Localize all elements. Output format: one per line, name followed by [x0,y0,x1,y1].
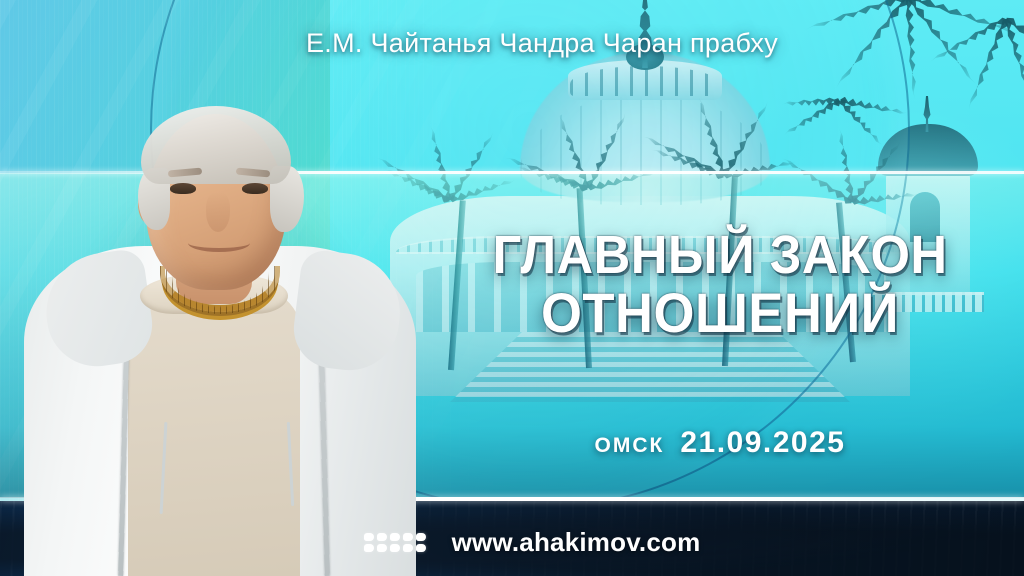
eye-left [170,183,196,194]
nose [206,192,230,232]
speaker-portrait [10,28,430,576]
eye-right [242,183,268,194]
logo-dot [416,544,426,552]
logo-dot [416,533,426,541]
logo-dot [364,544,374,552]
logo-dot [390,544,400,552]
title-line-1: ГЛАВНЫЙ ЗАКОН [447,230,992,282]
event-date: 21.09.2025 [680,426,845,459]
promo-banner: Е.М. Чайтанья Чандра Чаран прабху ГЛАВНЫ… [0,0,1024,576]
logo-dot [377,544,387,552]
logo-dot [403,533,413,541]
website-url[interactable]: www.ahakimov.com [452,527,701,558]
mouth-smile [188,234,250,252]
logo-dot [364,533,374,541]
event-place-date: Омск21.09.2025 [430,426,1010,460]
logo-dot [390,533,400,541]
speaker-name: Е.М. Чайтанья Чандра Чаран прабху [0,28,1024,59]
logo-dot [377,533,387,541]
title-line-2: ОТНОШЕНИЙ [447,286,992,340]
ahakimov-dots-logo-icon [364,533,426,552]
event-city: Омск [595,426,665,459]
logo-dot [403,544,413,552]
event-title: ГЛАВНЫЙ ЗАКОН ОТНОШЕНИЙ [430,230,1010,340]
footer-bar: www.ahakimov.com [0,522,1024,562]
